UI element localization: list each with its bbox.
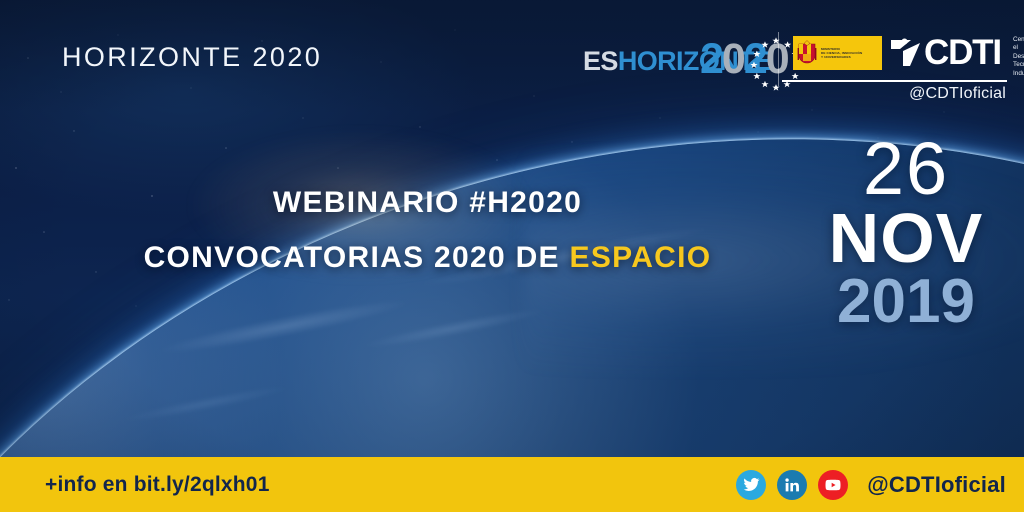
spain-coat-of-arms-icon <box>796 40 818 66</box>
ministry-label: MINISTERIO DE CIENCIA, INNOVACIÓN Y UNIV… <box>821 47 862 59</box>
headline-line-2: CONVOCATORIAS 2020 DE ESPACIO <box>0 241 855 275</box>
footer-bar: +info en bit.ly/2qlxh01 @C <box>0 457 1024 512</box>
page-title: HORIZONTE 2020 <box>62 42 322 73</box>
date-month: NOV <box>806 205 1006 271</box>
footer-info-link[interactable]: +info en bit.ly/2qlxh01 <box>45 473 270 497</box>
headline-highlight: ESPACIO <box>570 241 712 274</box>
cdti-arrow-icon <box>889 37 923 69</box>
event-date: 26 NOV 2019 <box>806 133 1006 333</box>
twitter-link[interactable] <box>736 470 766 500</box>
eshorizonte-es: ES <box>583 46 618 76</box>
youtube-icon <box>824 476 842 494</box>
date-year: 2019 <box>806 271 1006 333</box>
year-digit-0a: 0 <box>722 35 744 83</box>
cdti-handle: @CDTIoficial <box>909 85 1006 103</box>
cdti-tagline: Centro para el Desarrollo Tecnológico In… <box>1013 36 1024 78</box>
cdti-logo-block: MINISTERIO DE CIENCIA, INNOVACIÓN Y UNIV… <box>793 34 1007 76</box>
youtube-link[interactable] <box>818 470 848 500</box>
linkedin-link[interactable] <box>777 470 807 500</box>
header-divider <box>778 32 779 86</box>
poster-canvas: HORIZONTE 2020 ESHORIZONTE 2020 <box>0 0 1024 512</box>
date-day: 26 <box>806 133 1006 205</box>
cdti-underline <box>782 80 1007 82</box>
linkedin-icon <box>784 477 800 493</box>
social-links: @CDTIoficial <box>736 470 1006 500</box>
year-digit-2a: 2 <box>700 35 722 83</box>
cdti-wordmark: CDTI <box>924 34 1001 72</box>
twitter-icon <box>743 476 760 493</box>
ministry-logo: MINISTERIO DE CIENCIA, INNOVACIÓN Y UNIV… <box>793 36 882 70</box>
headline-line-2-prefix: CONVOCATORIAS 2020 DE <box>144 241 570 274</box>
headline-line-1: WEBINARIO #H2020 <box>0 186 855 220</box>
headline-block: WEBINARIO #H2020 CONVOCATORIAS 2020 DE E… <box>0 186 855 275</box>
footer-handle[interactable]: @CDTIoficial <box>867 472 1006 498</box>
